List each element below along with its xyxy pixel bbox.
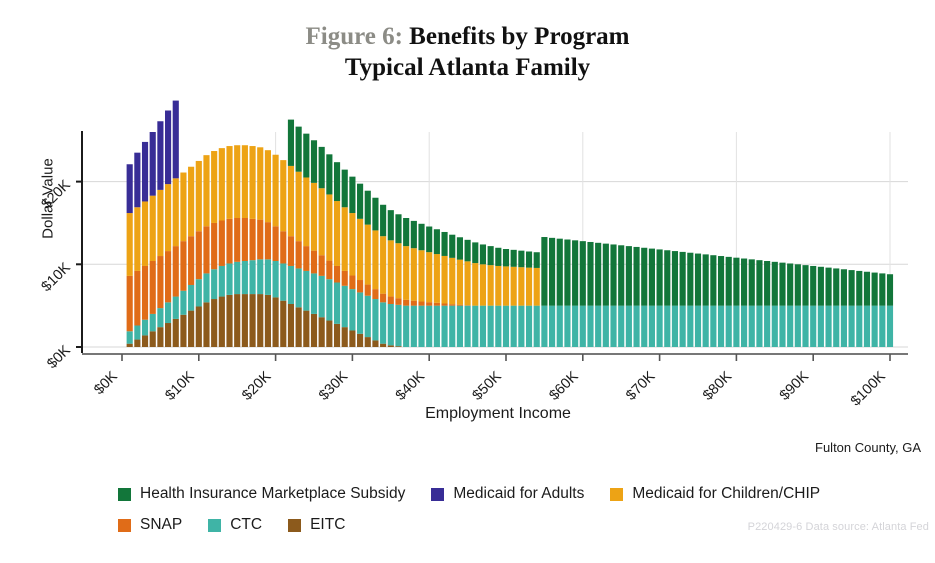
- bar-segment: [357, 219, 363, 280]
- bar-segment: [280, 231, 286, 263]
- bar-segment: [257, 220, 263, 260]
- bar-segment: [157, 327, 163, 347]
- bar-segment: [457, 237, 463, 259]
- bar-segment: [273, 155, 279, 227]
- legend-label: Medicaid for Children/CHIP: [632, 485, 820, 503]
- bar-segment: [188, 311, 194, 347]
- x-axis-tick-label: $90K: [777, 368, 812, 403]
- bar-segment: [649, 306, 655, 347]
- legend-item-marketplace[interactable]: Health Insurance Marketplace Subsidy: [118, 485, 405, 503]
- source-note: P220429-6 Data source: Atlanta Fed: [748, 521, 929, 533]
- bar-segment: [572, 240, 578, 305]
- bar-segment: [234, 145, 240, 218]
- bar-segment: [534, 268, 540, 306]
- bar-segment: [173, 178, 179, 246]
- x-axis-tick-label: $50K: [470, 368, 505, 403]
- bar-segment: [810, 266, 816, 306]
- bar-segment: [395, 243, 401, 298]
- bar-segment: [157, 121, 163, 190]
- bar-segment: [134, 207, 140, 271]
- x-axis-tick-label: $10K: [162, 368, 197, 403]
- bar-segment: [787, 306, 793, 347]
- bar-segment: [395, 298, 401, 305]
- bar-segment: [257, 259, 263, 294]
- bar-segment: [234, 294, 240, 347]
- bar-segment: [380, 236, 386, 293]
- bar-segment: [879, 306, 885, 347]
- bar-segment: [511, 250, 517, 267]
- bar-segment: [580, 306, 586, 347]
- bar-segment: [372, 299, 378, 340]
- bar-segment: [633, 247, 639, 306]
- bar-segment: [219, 220, 225, 265]
- bar-segment: [726, 257, 732, 306]
- bar-segment: [526, 251, 532, 267]
- bar-segment: [480, 264, 486, 305]
- x-axis-tick-label: $70K: [623, 368, 658, 403]
- bar-segment: [395, 305, 401, 346]
- bar-segment: [334, 201, 340, 266]
- bar-segment: [534, 252, 540, 268]
- bar-segment: [273, 297, 279, 347]
- legend-swatch-icon: [118, 488, 131, 501]
- bar-segment: [326, 261, 332, 280]
- bar-segment: [303, 271, 309, 311]
- bar-segment: [296, 172, 302, 241]
- bar-segment: [411, 248, 417, 301]
- bar-segment: [864, 306, 870, 347]
- bar-segment: [388, 297, 394, 304]
- bar-segment: [557, 306, 563, 347]
- legend-item-ctc[interactable]: CTC: [208, 516, 262, 534]
- bar-segment: [395, 214, 401, 243]
- legend-swatch-icon: [288, 519, 301, 532]
- bar-segment: [626, 246, 632, 306]
- bar-segment: [779, 263, 785, 306]
- bar-segment: [595, 243, 601, 306]
- bar-segment: [472, 306, 478, 347]
- bar-segment: [564, 240, 570, 306]
- bar-segment: [465, 305, 471, 306]
- bar-segment: [726, 306, 732, 347]
- bar-segment: [449, 304, 455, 305]
- x-axis-tick-label: $30K: [316, 368, 351, 403]
- bar-segment: [365, 191, 371, 225]
- bar-segment: [856, 306, 862, 347]
- bar-segment: [211, 151, 217, 223]
- bar-segment: [134, 340, 140, 347]
- bar-segment: [288, 236, 294, 266]
- bar-segment: [249, 219, 255, 260]
- x-axis-tick-label: $100K: [848, 368, 889, 409]
- bar-segment: [802, 306, 808, 347]
- bar-segment: [534, 306, 540, 347]
- bar-segment: [342, 170, 348, 208]
- bar-segment: [680, 306, 686, 347]
- bar-segment: [349, 275, 355, 289]
- bar-segment: [296, 307, 302, 347]
- bar-segment: [142, 266, 148, 320]
- legend-row-primary: Health Insurance Marketplace SubsidyMedi…: [118, 485, 928, 503]
- bar-segment: [280, 263, 286, 300]
- bar-segment: [280, 160, 286, 231]
- bar-segment: [695, 306, 701, 347]
- bar-segment: [219, 297, 225, 347]
- bar-segment: [657, 306, 663, 347]
- bar-segment: [465, 240, 471, 262]
- bar-segment: [311, 183, 317, 251]
- bar-segment: [441, 304, 447, 306]
- y-axis-title: Dollar Value: [40, 109, 57, 289]
- bar-segment: [150, 132, 156, 196]
- bar-segment: [825, 268, 831, 306]
- bar-segment: [465, 261, 471, 305]
- bar-segment: [165, 111, 171, 185]
- bar-segment: [418, 250, 424, 301]
- bar-segment: [311, 140, 317, 183]
- bar-segment: [142, 320, 148, 336]
- bar-segment: [687, 306, 693, 347]
- legend-swatch-icon: [208, 519, 221, 532]
- bar-segment: [157, 190, 163, 256]
- bar-segment: [395, 346, 401, 347]
- bar-segment: [503, 249, 509, 266]
- bar-segment: [549, 306, 555, 347]
- bar-segment: [426, 306, 432, 347]
- bar-segment: [342, 286, 348, 327]
- bar-segment: [127, 344, 133, 347]
- bar-segment: [188, 285, 194, 311]
- bar-segment: [457, 260, 463, 305]
- bar-segment: [587, 306, 593, 347]
- bar-segment: [349, 330, 355, 347]
- bar-segment: [495, 248, 501, 266]
- bar-segment: [219, 148, 225, 220]
- bar-segment: [127, 331, 133, 343]
- bar-segment: [795, 264, 801, 305]
- bar-segment: [249, 260, 255, 294]
- bar-segment: [849, 270, 855, 306]
- bar-segment: [311, 273, 317, 314]
- bar-segment: [257, 147, 263, 219]
- bar-segment: [418, 224, 424, 250]
- bar-segment: [326, 279, 332, 320]
- bar-segment: [249, 294, 255, 347]
- bar-segment: [157, 308, 163, 327]
- bar-segment: [180, 241, 186, 291]
- bar-segment: [411, 221, 417, 248]
- county-note: Fulton County, GA: [815, 440, 921, 455]
- y-axis-tick-label: $0K: [44, 342, 74, 372]
- bar-segment: [641, 248, 647, 306]
- bar-segment: [841, 269, 847, 305]
- legend-swatch-icon: [431, 488, 444, 501]
- bar-segment: [334, 162, 340, 201]
- bar-segment: [741, 259, 747, 306]
- bar-segment: [680, 252, 686, 306]
- bar-segment: [319, 317, 325, 347]
- bar-segment: [703, 254, 709, 305]
- bar-segment: [134, 153, 140, 208]
- bar-segment: [495, 306, 501, 347]
- bar-segment: [288, 120, 294, 166]
- bar-segment: [303, 311, 309, 347]
- bar-segment: [841, 306, 847, 347]
- bar-segment: [226, 146, 232, 219]
- bar-segment: [503, 306, 509, 347]
- bar-segment: [296, 268, 302, 307]
- bar-segment: [434, 229, 440, 254]
- bar-segment: [357, 334, 363, 347]
- bar-segment: [749, 259, 755, 305]
- bar-segment: [196, 161, 202, 231]
- bar-segment: [503, 266, 509, 305]
- bar-segment: [203, 302, 209, 347]
- bar-segment: [365, 337, 371, 347]
- bar-segment: [196, 231, 202, 279]
- bar-segment: [303, 177, 309, 246]
- bar-segment: [157, 256, 163, 308]
- bar-segment: [380, 294, 386, 303]
- bar-segment: [127, 213, 133, 276]
- bar-segment: [257, 294, 263, 347]
- bar-segment: [664, 250, 670, 305]
- plot-area-wrapper: Dollar Value Employment Income $0K$10K$2…: [0, 0, 935, 563]
- bar-segment: [173, 246, 179, 296]
- bar-segment: [480, 244, 486, 264]
- bar-segment: [388, 240, 394, 296]
- bar-segment: [180, 173, 186, 242]
- bar-segment: [273, 226, 279, 261]
- bar-segment: [541, 306, 547, 347]
- x-axis-tick-label: $60K: [546, 368, 581, 403]
- bar-segment: [695, 254, 701, 306]
- legend-label: EITC: [310, 516, 345, 534]
- bar-segment: [495, 266, 501, 306]
- bar-segment: [756, 306, 762, 347]
- bar-segment: [203, 226, 209, 273]
- bar-segment: [672, 251, 678, 306]
- bar-segment: [234, 262, 240, 294]
- bar-segment: [426, 302, 432, 305]
- legend-item-medicaid_adults[interactable]: Medicaid for Adults: [431, 485, 584, 503]
- bar-segment: [134, 271, 140, 326]
- bar-segment: [226, 219, 232, 264]
- bar-segment: [488, 265, 494, 306]
- bar-segment: [418, 306, 424, 347]
- bar-segment: [388, 210, 394, 240]
- bar-segment: [211, 223, 217, 269]
- x-axis-tick-label: $80K: [700, 368, 735, 403]
- bar-segment: [265, 222, 271, 259]
- bar-segment: [226, 295, 232, 347]
- bar-segment: [718, 306, 724, 347]
- bar-segment: [434, 303, 440, 306]
- legend-swatch-icon: [118, 519, 131, 532]
- bar-segment: [180, 315, 186, 347]
- bar-segment: [434, 306, 440, 347]
- bar-segment: [388, 304, 394, 345]
- bar-segment: [288, 304, 294, 347]
- bar-segment: [403, 306, 409, 347]
- bar-segment: [434, 254, 440, 303]
- bar-segment: [342, 271, 348, 286]
- bar-segment: [795, 306, 801, 347]
- bar-segment: [365, 296, 371, 337]
- bar-segment: [772, 262, 778, 306]
- bar-segment: [334, 324, 340, 347]
- bar-segment: [772, 306, 778, 347]
- bar-segment: [441, 306, 447, 347]
- bar-segment: [664, 306, 670, 347]
- bar-segment: [403, 300, 409, 306]
- bar-segment: [741, 306, 747, 347]
- bar-segment: [150, 314, 156, 331]
- bar-segment: [879, 273, 885, 305]
- bar-segment: [303, 246, 309, 271]
- bar-segment: [733, 306, 739, 347]
- bar-segment: [526, 268, 532, 306]
- bar-segment: [749, 306, 755, 347]
- bar-segment: [580, 241, 586, 306]
- bar-segment: [480, 306, 486, 347]
- bar-segment: [818, 306, 824, 347]
- bar-segment: [365, 285, 371, 296]
- bar-segment: [127, 276, 133, 331]
- bar-segment: [311, 314, 317, 347]
- bar-segment: [887, 306, 893, 347]
- bar-segment: [511, 267, 517, 306]
- bar-segment: [380, 302, 386, 343]
- bar-segment: [411, 301, 417, 306]
- legend-item-eitc[interactable]: EITC: [288, 516, 345, 534]
- bar-segment: [511, 306, 517, 347]
- bar-segment: [610, 306, 616, 347]
- bar-segment: [518, 251, 524, 268]
- bar-segment: [887, 274, 893, 305]
- legend-item-snap[interactable]: SNAP: [118, 516, 182, 534]
- bar-segment: [165, 184, 171, 251]
- bar-segment: [856, 271, 862, 306]
- bar-segment: [365, 225, 371, 285]
- bar-segment: [372, 230, 378, 289]
- bar-segment: [234, 218, 240, 262]
- bar-segment: [334, 283, 340, 324]
- bar-segment: [150, 331, 156, 347]
- bar-segment: [710, 306, 716, 347]
- legend-swatch-icon: [610, 488, 623, 501]
- bar-segment: [779, 306, 785, 347]
- bar-segment: [242, 294, 248, 347]
- bar-segment: [426, 227, 432, 253]
- bar-segment: [465, 306, 471, 347]
- bar-segment: [595, 306, 601, 347]
- bar-segment: [457, 306, 463, 347]
- bar-segment: [603, 244, 609, 306]
- bar-segment: [173, 297, 179, 319]
- bar-segment: [142, 201, 148, 266]
- bar-segment: [357, 184, 363, 219]
- bar-segment: [633, 306, 639, 347]
- bar-segment: [618, 306, 624, 347]
- bar-segment: [449, 235, 455, 258]
- bar-segment: [150, 196, 156, 261]
- bar-segment: [326, 194, 332, 260]
- bar-segment: [211, 269, 217, 299]
- bar-segment: [196, 279, 202, 306]
- bar-segment: [326, 154, 332, 194]
- bar-segment: [833, 306, 839, 347]
- bar-segment: [142, 142, 148, 202]
- bar-segment: [687, 253, 693, 306]
- bar-segment: [319, 276, 325, 317]
- bar-segment: [403, 218, 409, 246]
- bar-segment: [150, 261, 156, 314]
- bar-segment: [864, 272, 870, 306]
- bar-segment: [380, 344, 386, 347]
- bar-segment: [288, 266, 294, 304]
- bar-segment: [296, 241, 302, 268]
- bar-segment: [334, 266, 340, 283]
- bar-segment: [833, 268, 839, 305]
- bar-segment: [618, 245, 624, 305]
- bar-segment: [127, 164, 133, 213]
- bar-segment: [242, 145, 248, 218]
- bar-segment: [165, 302, 171, 323]
- bar-segment: [265, 295, 271, 347]
- bar-segment: [488, 246, 494, 265]
- bar-segment: [818, 267, 824, 306]
- bar-segment: [564, 306, 570, 347]
- bar-segment: [718, 256, 724, 306]
- bar-segment: [380, 205, 386, 236]
- bar-segment: [372, 340, 378, 347]
- legend-item-medicaid_children[interactable]: Medicaid for Children/CHIP: [610, 485, 820, 503]
- bar-segment: [342, 327, 348, 347]
- bar-segment: [641, 306, 647, 347]
- bar-segment: [203, 155, 209, 226]
- bar-segment: [173, 101, 179, 179]
- bar-segment: [710, 255, 716, 305]
- x-axis-tick-label: $40K: [393, 368, 428, 403]
- bar-segment: [587, 242, 593, 306]
- bar-segment: [872, 306, 878, 347]
- bar-segment: [426, 252, 432, 302]
- bar-segment: [541, 237, 547, 306]
- bar-segment: [180, 291, 186, 315]
- bar-segment: [211, 299, 217, 347]
- bar-segment: [203, 273, 209, 302]
- bar-segment: [733, 258, 739, 306]
- bar-segment: [810, 306, 816, 347]
- bar-segment: [672, 306, 678, 347]
- bar-segment: [265, 259, 271, 295]
- legend-label: Health Insurance Marketplace Subsidy: [140, 485, 405, 503]
- bar-segment: [626, 306, 632, 347]
- bar-segment: [349, 213, 355, 275]
- bar-segment: [249, 146, 255, 219]
- bar-segment: [764, 261, 770, 306]
- stacked-bar-chart: $0K$10K$20K$0K$10K$20K$30K$40K$50K$60K$7…: [0, 0, 935, 420]
- bar-segment: [441, 232, 447, 256]
- bar-segment: [357, 292, 363, 333]
- bar-segment: [372, 198, 378, 231]
- bar-segment: [518, 306, 524, 347]
- bar-segment: [280, 301, 286, 347]
- bar-segment: [756, 260, 762, 305]
- bar-segment: [649, 249, 655, 306]
- bar-segment: [441, 256, 447, 304]
